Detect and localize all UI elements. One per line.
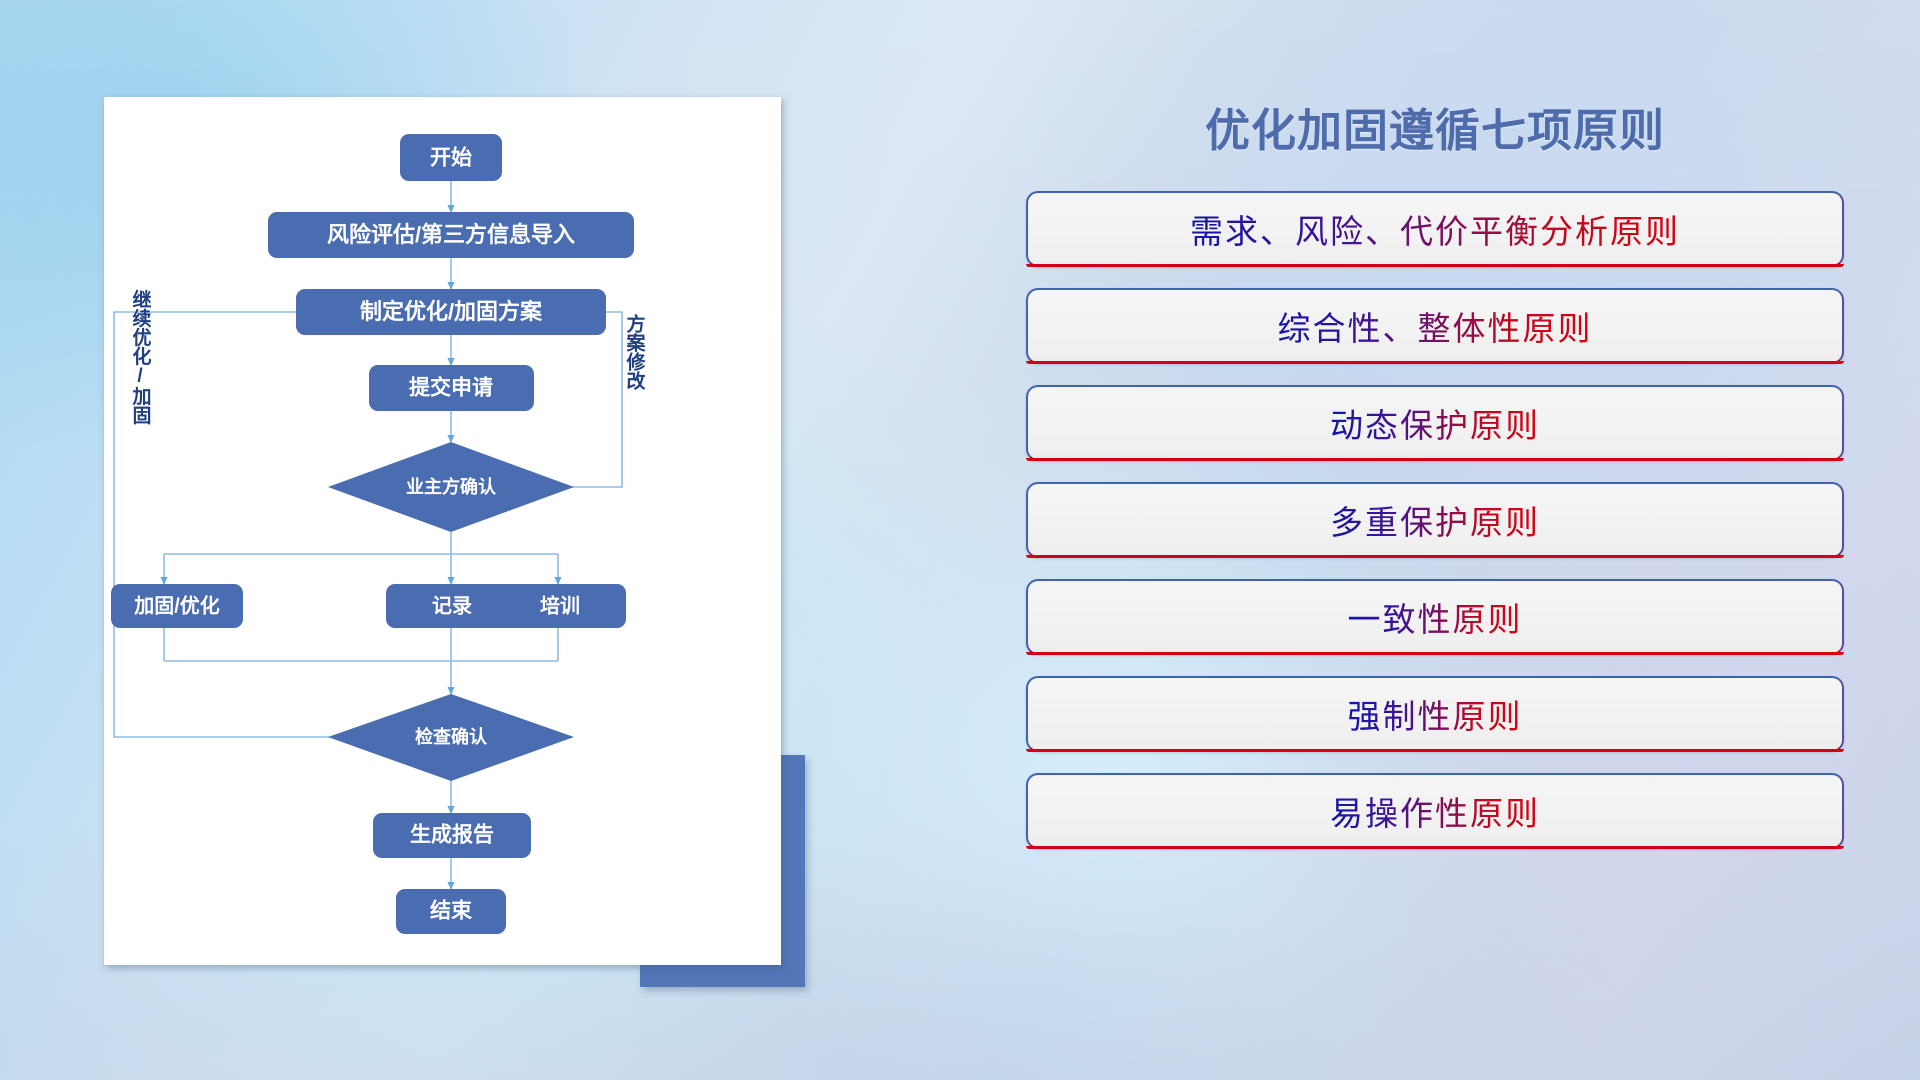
node-training-label: 培训: [540, 593, 580, 617]
principle-card[interactable]: 综合性、整体性原则: [1026, 288, 1844, 364]
principle-card-label: 动态保护原则: [1330, 399, 1540, 447]
principle-card-label: 多重保护原则: [1330, 496, 1540, 544]
node-plan-label: 制定优化/加固方案: [360, 299, 543, 324]
node-submit-application[interactable]: 提交申请: [369, 365, 534, 411]
node-record-label: 记录: [432, 594, 472, 617]
node-check-confirm[interactable]: 检查确认: [328, 694, 574, 781]
node-start-label: 开始: [430, 146, 472, 170]
flowchart-card: 开始 风险评估/第三方信息导入 制定优化/加固方案 提交申请 业主方确认: [104, 97, 781, 965]
node-end[interactable]: 结束: [396, 889, 506, 934]
flowchart-diagram: 开始 风险评估/第三方信息导入 制定优化/加固方案 提交申请 业主方确认: [104, 97, 781, 965]
node-risk-assessment[interactable]: 风险评估/第三方信息导入: [268, 212, 634, 258]
principle-card[interactable]: 易操作性原则: [1026, 773, 1844, 849]
page-title: 优化加固遵循七项原则: [1020, 96, 1850, 156]
flow-nodes: 开始 风险评估/第三方信息导入 制定优化/加固方案 提交申请 业主方确认: [111, 134, 634, 934]
principle-card-label: 强制性原则: [1348, 690, 1523, 738]
node-generate-report-label: 生成报告: [410, 823, 494, 847]
principle-card[interactable]: 动态保护原则: [1026, 385, 1844, 461]
principle-card-label: 易操作性原则: [1330, 787, 1540, 835]
principle-card[interactable]: 强制性原则: [1026, 676, 1844, 752]
principle-card[interactable]: 一致性原则: [1026, 579, 1844, 655]
node-owner-confirm-label: 业主方确认: [406, 476, 497, 497]
principle-card-label: 需求、风险、代价平衡分析原则: [1190, 205, 1680, 253]
node-harden[interactable]: 加固/优化: [111, 584, 243, 628]
edge-label-plan-revise: 方案修改: [624, 313, 647, 391]
node-plan[interactable]: 制定优化/加固方案: [296, 289, 606, 335]
principle-card-label: 一致性原则: [1348, 593, 1523, 641]
principle-card[interactable]: 多重保护原则: [1026, 482, 1844, 558]
node-training[interactable]: 培训: [494, 584, 626, 628]
flow-connectors: [114, 181, 622, 889]
node-check-confirm-label: 检查确认: [415, 726, 488, 747]
node-owner-confirm[interactable]: 业主方确认: [328, 442, 574, 532]
node-risk-assessment-label: 风险评估/第三方信息导入: [327, 222, 575, 247]
principle-card[interactable]: 需求、风险、代价平衡分析原则: [1026, 191, 1844, 267]
edge-label-continue-optimize: 继续优化/加固: [130, 288, 153, 425]
principles-list: 需求、风险、代价平衡分析原则 综合性、整体性原则 动态保护原则 多重保护原则 一…: [1020, 191, 1850, 849]
node-generate-report[interactable]: 生成报告: [373, 813, 531, 858]
principles-panel: 优化加固遵循七项原则 需求、风险、代价平衡分析原则 综合性、整体性原则 动态保护…: [1020, 96, 1850, 1026]
node-start[interactable]: 开始: [400, 134, 502, 181]
node-submit-application-label: 提交申请: [409, 376, 493, 400]
node-harden-label: 加固/优化: [133, 593, 220, 617]
node-end-label: 结束: [430, 899, 473, 923]
principle-card-label: 综合性、整体性原则: [1278, 302, 1593, 350]
